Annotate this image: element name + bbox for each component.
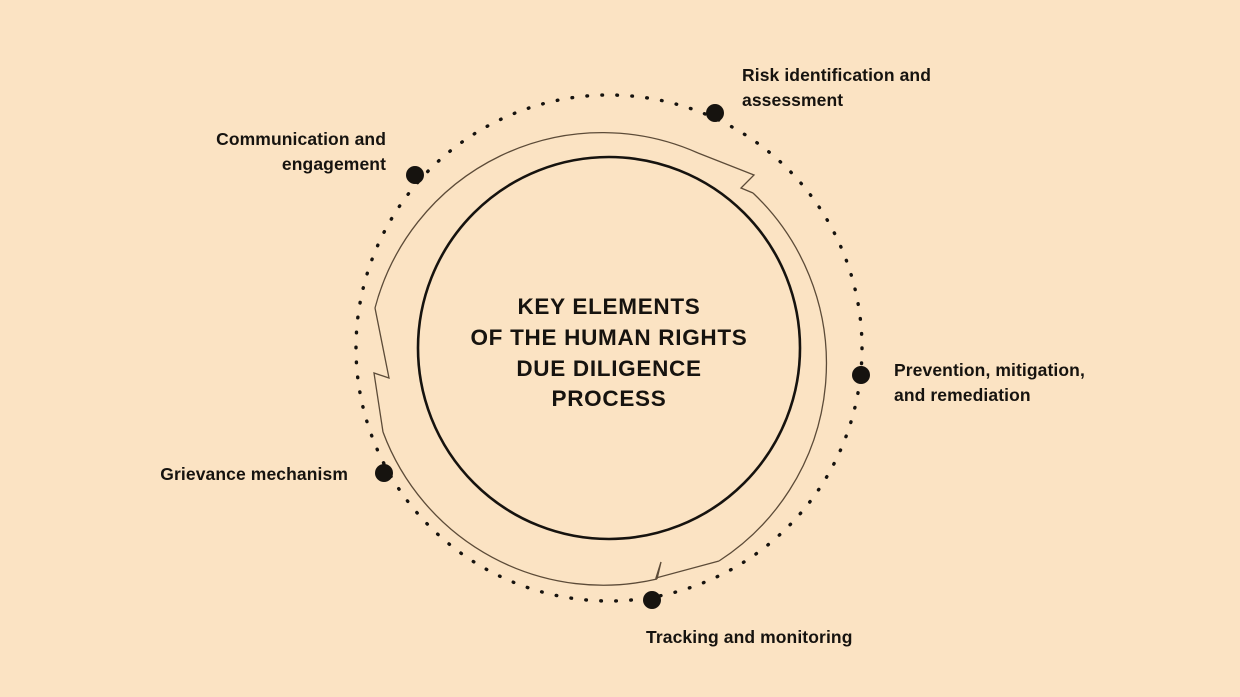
step-label-communication-engagement: Communication and engagement [130, 127, 386, 177]
step-label-grievance-mechanism: Grievance mechanism [86, 462, 348, 487]
thin-arc-bottom-left [383, 432, 657, 585]
step-label-risk-identification: Risk identification and assessment [742, 63, 992, 113]
center-title: KEY ELEMENTS OF THE HUMAN RIGHTS DUE DIL… [419, 292, 799, 415]
thin-arc-top [375, 133, 698, 308]
marker-prevention-mitigation-remediation[interactable] [852, 366, 870, 384]
step-label-prevention-mitigation-remediation: Prevention, mitigation, and remediation [894, 358, 1134, 408]
marker-tracking-monitoring[interactable] [643, 591, 661, 609]
marker-communication-engagement[interactable] [406, 166, 424, 184]
arrowhead-upper-right [698, 153, 754, 193]
diagram-canvas: KEY ELEMENTS OF THE HUMAN RIGHTS DUE DIL… [0, 0, 1240, 697]
marker-risk-identification[interactable] [706, 104, 724, 122]
arrowhead-left [374, 308, 389, 432]
step-label-tracking-monitoring: Tracking and monitoring [646, 625, 906, 650]
marker-grievance-mechanism[interactable] [375, 464, 393, 482]
arrowhead-bottom [656, 561, 719, 579]
